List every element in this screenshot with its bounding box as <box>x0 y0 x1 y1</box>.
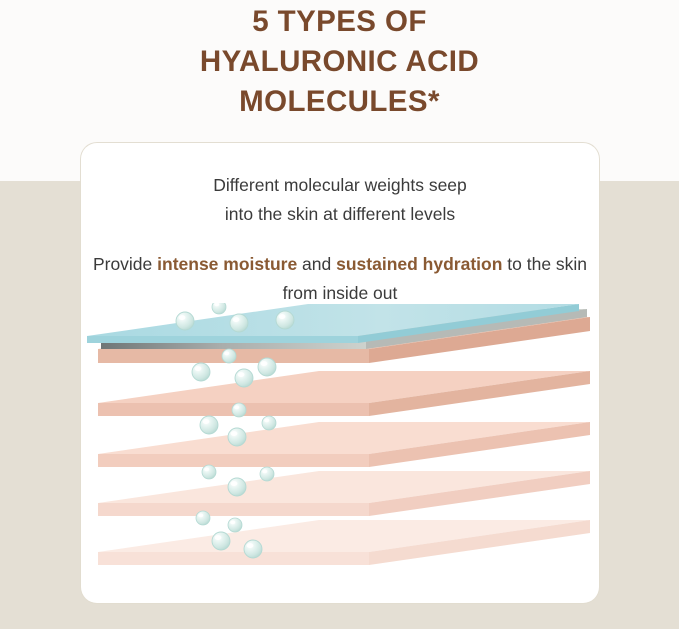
benefit-highlight-two: sustained hydration <box>336 254 502 274</box>
description-line-2: into the skin at different levels <box>225 204 455 224</box>
card-text-block: Different molecular weights seep into th… <box>81 171 599 308</box>
skin-layer-3 <box>98 422 590 467</box>
description-line-1: Different molecular weights seep <box>213 175 467 195</box>
skin-layer-5 <box>98 520 590 565</box>
skin-layers-svg <box>81 303 599 583</box>
page-title: 5 TYPES OF HYALURONIC ACID MOLECULES* <box>0 0 679 122</box>
page-title-line-3: MOLECULES* <box>0 82 679 122</box>
benefit-paragraph: Provide intense moisture and sustained h… <box>81 250 599 308</box>
page-title-line-1: 5 TYPES OF <box>0 2 679 42</box>
page-title-line-2: HYALURONIC ACID <box>0 42 679 82</box>
skin-layers-illustration <box>81 303 599 583</box>
benefit-highlight-one: intense moisture <box>157 254 297 274</box>
benefit-middle: and <box>297 254 336 274</box>
content-card: Different molecular weights seep into th… <box>81 143 599 603</box>
skin-layer-2 <box>98 371 590 416</box>
skin-layer-1 <box>87 304 590 363</box>
description-paragraph: Different molecular weights seep into th… <box>81 171 599 229</box>
benefit-prefix: Provide <box>93 254 157 274</box>
skin-layer-4 <box>98 471 590 516</box>
